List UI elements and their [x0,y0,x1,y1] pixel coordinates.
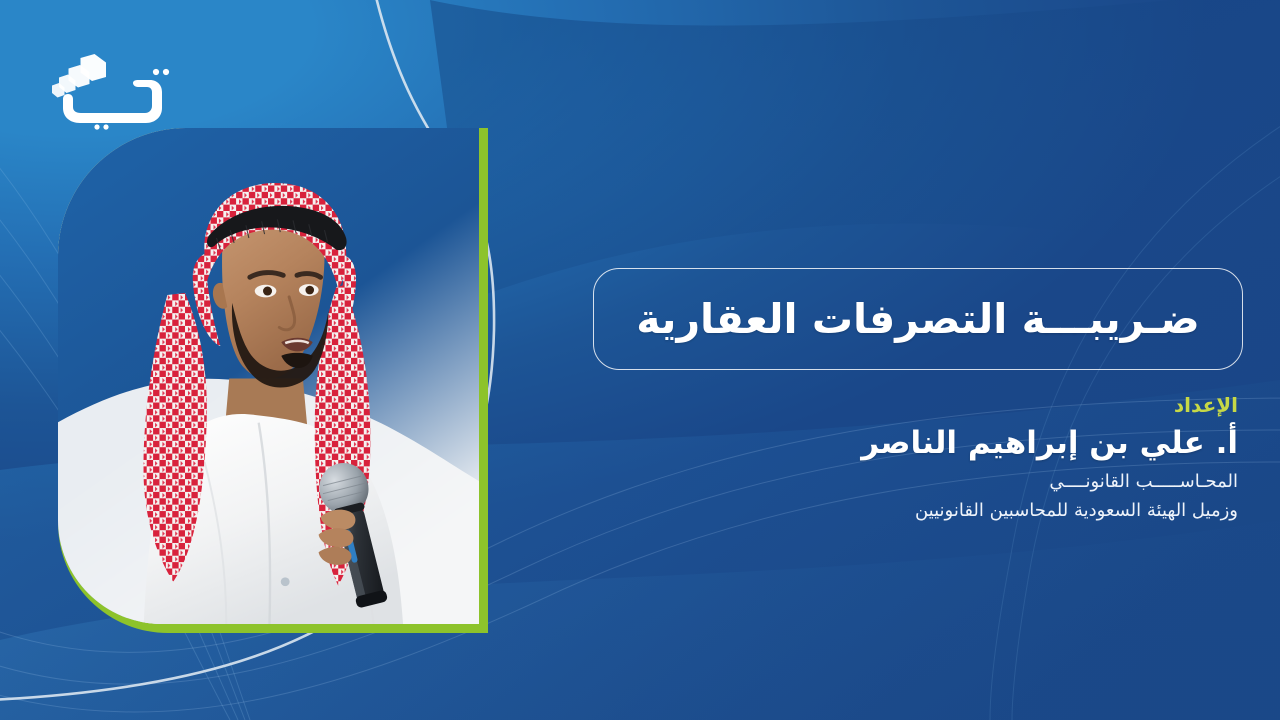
speaker-fellowship: وزميل الهيئة السعودية للمحاسبين القانوني… [598,497,1238,526]
bg-band-top [430,0,1280,300]
presentation-slide: مركز التمكين المالي للتدريب [0,0,1280,720]
credits-label: الإعداد [598,392,1238,419]
speaker-portrait [58,128,479,624]
speaker-photo-card [58,128,488,633]
speaker-name: أ. علي بن إبراهيم الناصر [598,421,1238,466]
credits-block: الإعداد أ. علي بن إبراهيم الناصر المحـاس… [598,392,1238,526]
stacked-arrows-icon [52,54,106,98]
slide-title: ضـريبـــة التصرفات العقارية [636,295,1200,343]
slide-title-box: ضـريبـــة التصرفات العقارية [593,268,1243,370]
speaker-role: المحـاســـــب القانونــــي [598,468,1238,497]
